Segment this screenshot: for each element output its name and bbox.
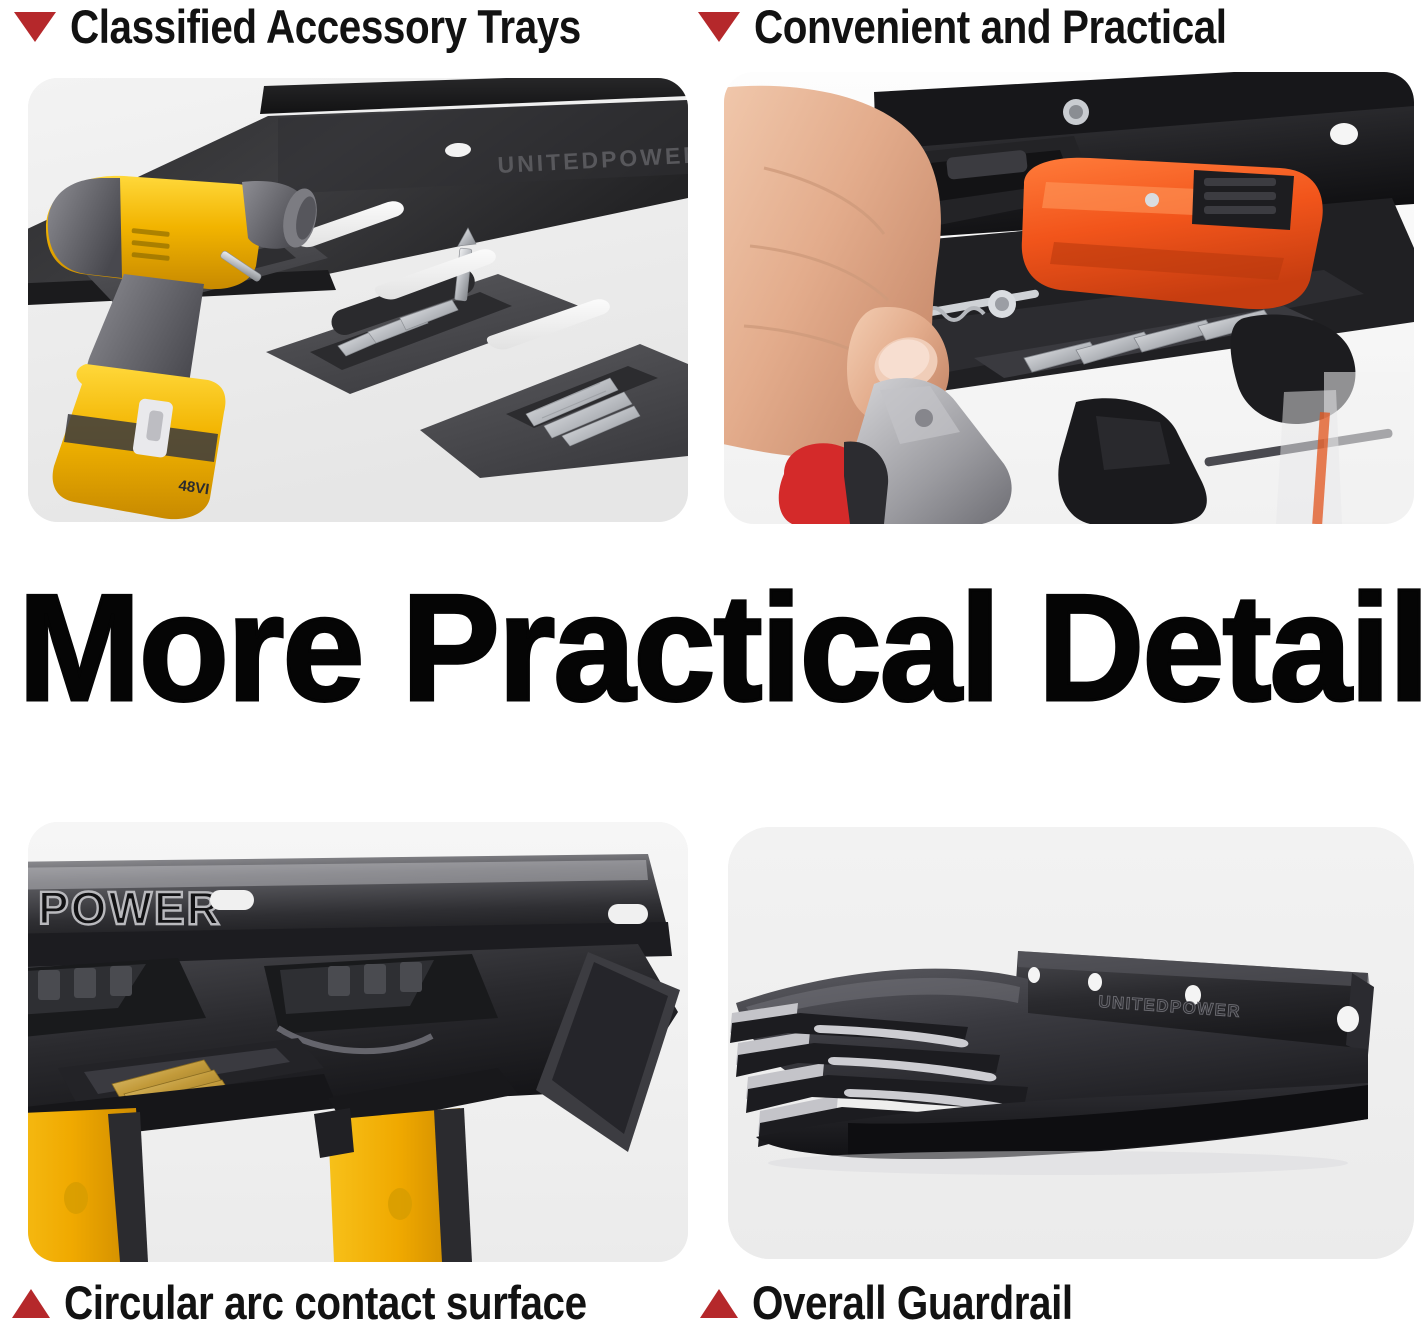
page-headline: More Practical Details: [18, 584, 1366, 714]
circular-arc-contact-surface-photo: POWER: [28, 822, 688, 1262]
convenient-and-practical-photo: [724, 72, 1414, 524]
caption-overall-guardrail: Overall Guardrail: [700, 1278, 1125, 1328]
brand-emboss-text: POWER: [38, 882, 222, 934]
caption-circular-arc-contact-surface: Circular arc contact surface: [12, 1278, 672, 1328]
caption-classified-accessory-trays: Classified Accessory Trays: [14, 2, 664, 52]
triangle-up-icon: [12, 1289, 50, 1318]
caption-label: Overall Guardrail: [752, 1278, 1073, 1328]
triangle-down-icon: [698, 12, 740, 42]
caption-label: Circular arc contact surface: [64, 1278, 587, 1328]
caption-label: Convenient and Practical: [754, 2, 1227, 52]
overall-guardrail-photo: UNITEDPOWER: [728, 827, 1414, 1259]
triangle-up-icon: [700, 1289, 738, 1318]
caption-label: Classified Accessory Trays: [70, 2, 581, 52]
triangle-down-icon: [14, 12, 56, 42]
caption-convenient-and-practical: Convenient and Practical: [698, 2, 1304, 52]
product-feature-page: Classified Accessory Trays Convenient an…: [0, 0, 1423, 1330]
classified-accessory-trays-photo: UNITEDPOWER: [28, 78, 688, 522]
